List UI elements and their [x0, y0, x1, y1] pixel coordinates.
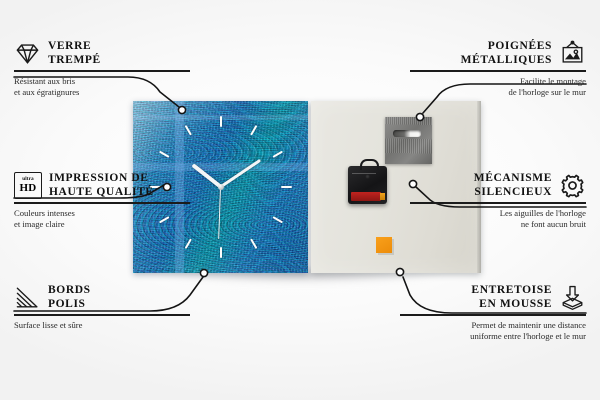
feature-title-line2: MÉTALLIQUES	[461, 54, 552, 68]
gear-icon	[559, 172, 586, 199]
framed-picture-hanging-icon	[559, 40, 586, 67]
feature-desc-line2: ne font aucun bruit	[410, 219, 586, 231]
feature-divider	[410, 202, 586, 204]
feature-verre-trempe: VERRE TREMPÉ Résistant aux bris et aux é…	[14, 40, 190, 99]
feature-title-line2: TREMPÉ	[48, 54, 101, 68]
feature-desc-line1: Couleurs intenses	[14, 208, 190, 220]
feature-desc-line1: Résistant aux bris	[14, 76, 190, 88]
feature-title-line1: BORDS	[48, 284, 91, 298]
feature-desc-line2: de l'horloge sur le mur	[410, 87, 586, 99]
feature-header: VERRE TREMPÉ	[14, 40, 190, 67]
feature-poignees-metalliques: POIGNÉES MÉTALLIQUES Facilite le montage…	[410, 40, 586, 99]
feature-divider	[410, 70, 586, 72]
feature-desc-line2: et image claire	[14, 219, 190, 231]
feature-title-line2: POLIS	[48, 298, 91, 312]
feature-description: Facilite le montage de l'horloge sur le …	[410, 76, 586, 99]
feature-desc-line1: Permet de maintenir une distance	[400, 320, 586, 332]
down-arrow-on-pad-icon	[559, 284, 586, 311]
feature-title: IMPRESSION DE HAUTE QUALITÉ	[49, 172, 154, 199]
infographic-canvas: VERRE TREMPÉ Résistant aux bris et aux é…	[0, 0, 600, 400]
feature-title-line1: ENTRETOISE	[471, 284, 552, 298]
callout-marker-verre-trempe	[178, 106, 185, 113]
feature-mecanisme-silencieux: MÉCANISME SILENCIEUX Les aiguilles de l'…	[410, 172, 586, 231]
feature-title: BORDS POLIS	[48, 284, 91, 311]
feature-divider	[14, 70, 190, 72]
diamond-icon	[14, 40, 41, 67]
feature-header: MÉCANISME SILENCIEUX	[410, 172, 586, 199]
feature-title: ENTRETOISE EN MOUSSE	[471, 284, 552, 311]
feature-title-line1: POIGNÉES	[461, 40, 552, 54]
feature-desc-line2: uniforme entre l'horloge et le mur	[400, 331, 586, 343]
feature-title-line2: SILENCIEUX	[474, 186, 552, 200]
badge-text-hd: HD	[19, 183, 36, 194]
ultra-hd-badge-icon: ultra HD	[14, 172, 42, 199]
feature-header: ENTRETOISE EN MOUSSE	[400, 284, 586, 311]
feature-bords-polis: BORDS POLIS Surface lisse et sûre	[14, 284, 190, 331]
feature-description: Les aiguilles de l'horloge ne font aucun…	[410, 208, 586, 231]
feature-divider	[400, 314, 586, 316]
feature-description: Résistant aux bris et aux égratignures	[14, 76, 190, 99]
feature-description: Surface lisse et sûre	[14, 320, 190, 332]
feature-description: Couleurs intenses et image claire	[14, 208, 190, 231]
feature-title: VERRE TREMPÉ	[48, 40, 101, 67]
feature-header: BORDS POLIS	[14, 284, 190, 311]
callout-marker-bords-polis	[200, 269, 207, 276]
callout-marker-poignees	[416, 113, 423, 120]
feature-desc-line2: et aux égratignures	[14, 87, 190, 99]
feature-title-line1: MÉCANISME	[474, 172, 552, 186]
feature-title-line1: IMPRESSION DE	[49, 172, 154, 186]
feature-title: POIGNÉES MÉTALLIQUES	[461, 40, 552, 67]
feature-title-line1: VERRE	[48, 40, 101, 54]
feature-title: MÉCANISME SILENCIEUX	[474, 172, 552, 199]
feature-description: Permet de maintenir une distance uniform…	[400, 320, 586, 343]
feature-divider	[14, 202, 190, 204]
callout-marker-entretoise	[396, 268, 403, 275]
feature-desc-line1: Les aiguilles de l'horloge	[410, 208, 586, 220]
feature-title-line2: HAUTE QUALITÉ	[49, 186, 154, 200]
feature-divider	[14, 314, 190, 316]
feature-desc-line1: Facilite le montage	[410, 76, 586, 88]
feature-title-line2: EN MOUSSE	[471, 298, 552, 312]
feature-entretoise-en-mousse: ENTRETOISE EN MOUSSE Permet de maintenir…	[400, 284, 586, 343]
polished-edge-icon	[14, 284, 41, 311]
feature-desc-line1: Surface lisse et sûre	[14, 320, 190, 332]
feature-impression-haute-qualite: ultra HD IMPRESSION DE HAUTE QUALITÉ Cou…	[14, 172, 190, 231]
feature-header: POIGNÉES MÉTALLIQUES	[410, 40, 586, 67]
feature-header: ultra HD IMPRESSION DE HAUTE QUALITÉ	[14, 172, 190, 199]
